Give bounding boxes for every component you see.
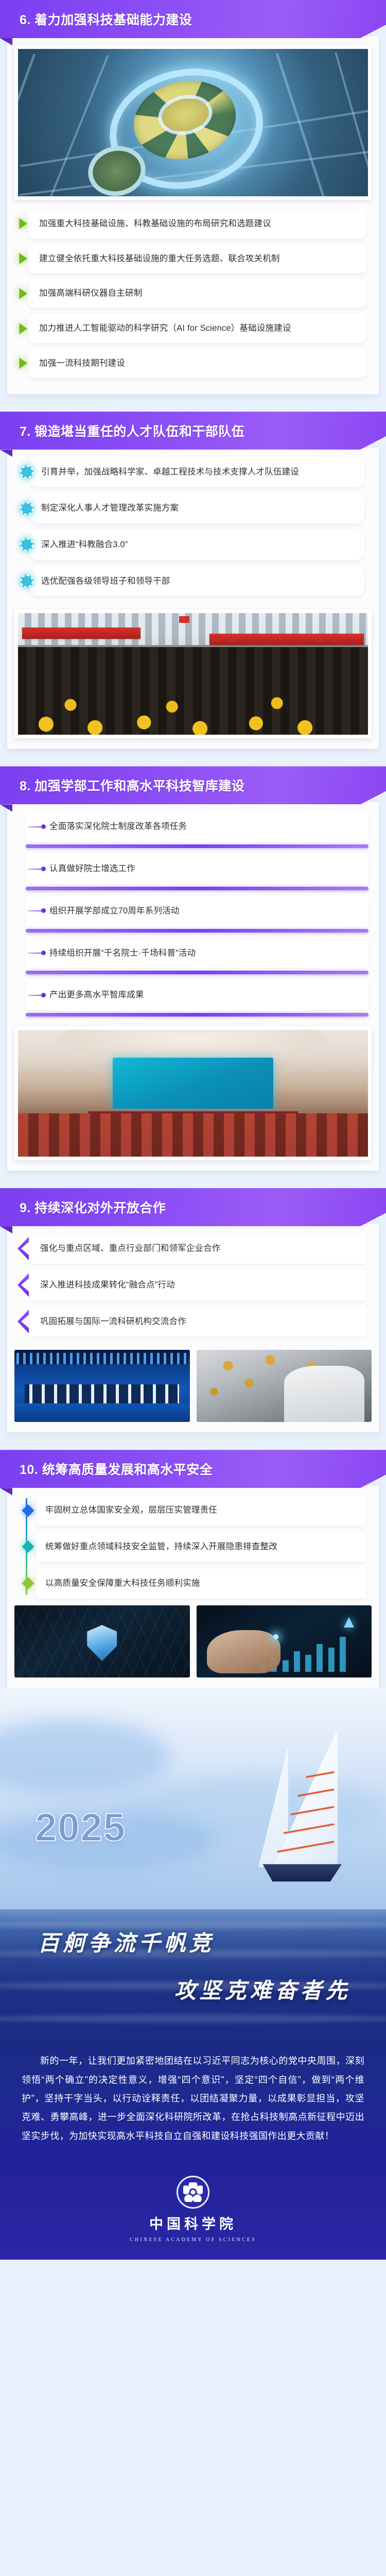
list-item-label: 深入推进“科教融合3.0” bbox=[41, 538, 356, 552]
section-spacer bbox=[0, 1171, 386, 1188]
section-10-photo-security bbox=[14, 1605, 190, 1677]
section-6-photo bbox=[14, 45, 372, 200]
divider-bar bbox=[26, 971, 369, 974]
section-spacer bbox=[0, 1432, 386, 1450]
presentation-screen bbox=[113, 1058, 274, 1108]
boat-hull bbox=[259, 1864, 342, 1882]
section-10-card: 牢固树立总体国家安全观，层层压实管理责任 统筹做好重点领域科技安全监管，持续深入… bbox=[7, 1486, 379, 1688]
led-strip bbox=[16, 1353, 188, 1364]
list-item-label: 全面落实深化院士制度改革各项任务 bbox=[49, 820, 361, 834]
list-item[interactable]: 加强一流科技期刊建设 bbox=[28, 349, 366, 378]
divider-bar bbox=[26, 887, 369, 890]
banner-notch bbox=[0, 1488, 12, 1495]
sailboat-icon bbox=[244, 1718, 342, 1888]
section-8-banner: 8. 加强学部工作和高水平科技智库建设 bbox=[0, 766, 386, 804]
list-item[interactable]: 制定深化人事人才管理改革实施方案 bbox=[30, 493, 364, 523]
list-item[interactable]: 产出更多高水平智库成果 bbox=[26, 980, 369, 1010]
road-line bbox=[14, 54, 36, 200]
org-name-en: CHINESE ACADEMY OF SCIENCES bbox=[130, 2237, 256, 2243]
section-10-photo-grid bbox=[14, 1605, 372, 1677]
wave bbox=[0, 2014, 386, 2023]
list-item[interactable]: 加强高端科研仪器自主研制 bbox=[28, 279, 366, 308]
section-9-photo-detector bbox=[197, 1350, 372, 1422]
researchers bbox=[284, 1366, 365, 1422]
hand bbox=[207, 1630, 280, 1673]
line-dot-bullet-icon bbox=[28, 950, 48, 956]
list-item[interactable]: 深入推进“科教融合3.0” bbox=[30, 530, 364, 560]
list-item-label: 持续组织开展“千名院士·千场科普”活动 bbox=[49, 946, 361, 960]
list-item-label: 选优配强各级领导班子和领导干部 bbox=[41, 574, 356, 588]
diamond-bullet-icon bbox=[22, 1504, 34, 1517]
divider-bar bbox=[26, 929, 369, 933]
slogan-line-1: 百舸争流千帆竞 bbox=[0, 1926, 386, 1957]
section-6: 6. 着力加强科技基础能力建设 加强重大科技基础设施、科教基础设施的布局研究和选… bbox=[0, 0, 386, 394]
infographic-page: 6. 着力加强科技基础能力建设 加强重大科技基础设施、科教基础设施的布局研究和选… bbox=[0, 0, 386, 2260]
dashed-circle-bullet-icon bbox=[20, 502, 33, 515]
graduates-crowd bbox=[18, 647, 368, 735]
list-item[interactable]: 加力推进人工智能驱动的科学研究（AI for Science）基础设施建设 bbox=[28, 314, 366, 343]
list-item[interactable]: 强化与重点区域、重点行业部门和领军企业合作 bbox=[30, 1233, 366, 1264]
list-item[interactable]: 持续组织开展“千名院士·千场科普”活动 bbox=[26, 938, 369, 969]
hall-dome bbox=[60, 1026, 326, 1060]
triangle-bullet-icon bbox=[19, 218, 27, 229]
diamond-bullet-icon bbox=[22, 1540, 34, 1553]
org-name-cn: 中国科学院 bbox=[149, 2213, 237, 2233]
section-6-title: 6. 着力加强科技基础能力建设 bbox=[0, 10, 192, 28]
list-item[interactable]: 统筹做好重点领域科技安全监管，持续深入开展隐患排查整改 bbox=[36, 1532, 366, 1562]
section-10-title: 10. 统筹高质量发展和高水平安全 bbox=[0, 1460, 213, 1478]
banner-notch bbox=[0, 1226, 12, 1233]
triangle-bullet-icon bbox=[19, 288, 27, 299]
chevron-left-bullet-icon bbox=[17, 1236, 29, 1260]
stage-people bbox=[25, 1384, 179, 1403]
finale-section: 2025 百舸争流千帆竞 攻坚克难奋者先 新的一年，让我们更加紧密地团结在以习近… bbox=[0, 1688, 386, 2260]
section-8-photo bbox=[14, 1026, 372, 1160]
section-8-list: 全面落实深化院士制度改革各项任务 认真做好院士增选工作 组织开展学部成立70周年… bbox=[14, 811, 372, 1022]
section-spacer bbox=[0, 749, 386, 766]
watercolor-sea-top: 2025 bbox=[0, 1688, 386, 1909]
triangle-bullet-icon bbox=[19, 358, 27, 369]
section-6-list: 加强重大科技基础设施、科教基础设施的布局研究和选题建议 建立健全依托重大科技基础… bbox=[14, 209, 372, 384]
section-9-photo-forum bbox=[14, 1350, 190, 1422]
stage-carpet bbox=[14, 1403, 190, 1422]
section-spacer bbox=[0, 394, 386, 412]
list-item[interactable]: 引育并举，加强战略科学家、卓越工程技术与技术支撑人才队伍建设 bbox=[30, 457, 364, 487]
list-item-label: 认真做好院士增选工作 bbox=[49, 862, 361, 876]
list-item-label: 加强高端科研仪器自主研制 bbox=[39, 286, 358, 300]
section-8-card: 全面落实深化院士制度改革各项任务 认真做好院士增选工作 组织开展学部成立70周年… bbox=[7, 802, 379, 1171]
watercolor-sea-mid: 百舸争流千帆竞 攻坚克难奋者先 bbox=[0, 1909, 386, 2048]
list-item-label: 制定深化人事人才管理改革实施方案 bbox=[41, 501, 356, 515]
section-9: 9. 持续深化对外开放合作 强化与重点区域、重点行业部门和领军企业合作 深入推进… bbox=[0, 1188, 386, 1432]
list-item-label: 加强一流科技期刊建设 bbox=[39, 357, 358, 370]
audience-seats bbox=[18, 1113, 368, 1157]
divider-bar bbox=[26, 1013, 369, 1016]
road-line bbox=[275, 53, 332, 200]
section-8: 8. 加强学部工作和高水平科技智库建设 全面落实深化院士制度改革各项任务 认真做… bbox=[0, 766, 386, 1171]
line-dot-bullet-icon bbox=[28, 992, 48, 998]
red-banner bbox=[209, 634, 364, 645]
section-9-card: 强化与重点区域、重点行业部门和领军企业合作 深入推进科技成果转化“融合点”行动 … bbox=[7, 1224, 379, 1432]
section-7-title: 7. 锻造堪当重任的人才队伍和干部队伍 bbox=[0, 421, 244, 440]
flag-icon bbox=[179, 616, 189, 623]
list-item-label: 加强重大科技基础设施、科教基础设施的布局研究和选题建议 bbox=[39, 217, 358, 231]
list-item-label: 巩固拓展与国际一流科研机构交流合作 bbox=[40, 1315, 359, 1329]
section-7: 7. 锻造堪当重任的人才队伍和干部队伍 引育并举，加强战略科学家、卓越工程技术与… bbox=[0, 412, 386, 749]
list-item[interactable]: 深入推进科技成果转化“融合点”行动 bbox=[30, 1270, 366, 1300]
list-item[interactable]: 组织开展学部成立70周年系列活动 bbox=[26, 896, 369, 926]
section-6-banner: 6. 着力加强科技基础能力建设 bbox=[0, 0, 386, 38]
watercolor-wash bbox=[0, 1719, 170, 1794]
emblem-center-dot bbox=[191, 2190, 196, 2195]
up-arrow-icon bbox=[344, 1617, 354, 1628]
triangle-bullet-icon bbox=[19, 323, 27, 334]
red-banner bbox=[22, 628, 141, 639]
dashed-circle-bullet-icon bbox=[20, 538, 33, 551]
list-item[interactable]: 以高质量安全保障重大科技任务顺利实施 bbox=[36, 1568, 366, 1599]
slogan-line-2: 攻坚克难奋者先 bbox=[0, 1973, 386, 2005]
list-item-label: 引育并举，加强战略科学家、卓越工程技术与技术支撑人才队伍建设 bbox=[41, 465, 356, 479]
line-dot-bullet-icon bbox=[28, 866, 48, 872]
year-label: 2025 bbox=[35, 1805, 126, 1850]
section-8-title: 8. 加强学部工作和高水平科技智库建设 bbox=[0, 776, 244, 794]
section-9-title: 9. 持续深化对外开放合作 bbox=[0, 1198, 166, 1216]
list-item[interactable]: 选优配强各级领导班子和领导干部 bbox=[30, 566, 364, 597]
list-item-label: 深入推进科技成果转化“融合点”行动 bbox=[40, 1278, 359, 1292]
triangle-bullet-icon bbox=[19, 253, 27, 264]
section-10-photo-growth bbox=[197, 1605, 372, 1677]
closing-paragraph: 新的一年，让我们更加紧密地团结在以习近平同志为核心的党中央周围，深刻领悟“两个确… bbox=[22, 2052, 364, 2145]
section-7-photo bbox=[14, 609, 372, 738]
list-item-label: 统筹做好重点领域科技安全监管，持续深入开展隐患排查整改 bbox=[45, 1540, 359, 1554]
list-item[interactable]: 认真做好院士增选工作 bbox=[26, 854, 369, 884]
list-item-label: 牢固树立总体国家安全观，层层压实管理责任 bbox=[45, 1503, 359, 1517]
section-9-list: 强化与重点区域、重点行业部门和领军企业合作 深入推进科技成果转化“融合点”行动 … bbox=[14, 1233, 372, 1343]
section-10: 10. 统筹高质量发展和高水平安全 牢固树立总体国家安全观，层层压实管理责任 统… bbox=[0, 1450, 386, 1688]
list-item-label: 加力推进人工智能驱动的科学研究（AI for Science）基础设施建设 bbox=[39, 321, 358, 335]
list-item[interactable]: 加强重大科技基础设施、科教基础设施的布局研究和选题建议 bbox=[28, 209, 366, 239]
list-item[interactable]: 全面落实深化院士制度改革各项任务 bbox=[26, 811, 369, 842]
cas-emblem-icon bbox=[177, 2176, 209, 2209]
list-item-label: 建立健全依托重大科技基础设施的重大任务选题、联合攻关机制 bbox=[39, 252, 358, 266]
list-item[interactable]: 巩固拓展与国际一流科研机构交流合作 bbox=[30, 1307, 366, 1337]
list-item-label: 组织开展学部成立70周年系列活动 bbox=[49, 904, 361, 918]
list-item[interactable]: 牢固树立总体国家安全观，层层压实管理责任 bbox=[36, 1495, 366, 1526]
line-dot-bullet-icon bbox=[28, 824, 48, 830]
list-item-label: 产出更多高水平智库成果 bbox=[49, 988, 361, 1002]
section-7-list: 引育并举，加强战略科学家、卓越工程技术与技术支撑人才队伍建设 制定深化人事人才管… bbox=[14, 457, 372, 603]
section-10-list: 牢固树立总体国家安全观，层层压实管理责任 统筹做好重点领域科技安全监管，持续深入… bbox=[14, 1495, 372, 1598]
closing-paragraph-block: 新的一年，让我们更加紧密地团结在以习近平同志为核心的党中央周围，深刻领悟“两个确… bbox=[0, 2048, 386, 2159]
footer-logo-block: 中国科学院 CHINESE ACADEMY OF SCIENCES bbox=[0, 2159, 386, 2260]
section-9-banner: 9. 持续深化对外开放合作 bbox=[0, 1188, 386, 1226]
road-line bbox=[335, 52, 372, 200]
list-item[interactable]: 建立健全依托重大科技基础设施的重大任务选题、联合攻关机制 bbox=[28, 244, 366, 274]
section-6-card: 加强重大科技基础设施、科教基础设施的布局研究和选题建议 建立健全依托重大科技基础… bbox=[7, 36, 379, 394]
section-9-photo-grid bbox=[14, 1350, 372, 1422]
dashed-circle-bullet-icon bbox=[20, 465, 33, 479]
chevron-left-bullet-icon bbox=[17, 1273, 29, 1297]
dashed-circle-bullet-icon bbox=[20, 574, 33, 588]
line-dot-bullet-icon bbox=[28, 908, 48, 914]
diamond-bullet-icon bbox=[22, 1577, 34, 1589]
section-7-card: 引育并举，加强战略科学家、卓越工程技术与技术支撑人才队伍建设 制定深化人事人才管… bbox=[7, 448, 379, 749]
section-7-banner: 7. 锻造堪当重任的人才队伍和干部队伍 bbox=[0, 412, 386, 450]
list-item-label: 强化与重点区域、重点行业部门和领军企业合作 bbox=[40, 1242, 359, 1256]
divider-bar bbox=[26, 844, 369, 848]
list-item-label: 以高质量安全保障重大科技任务顺利实施 bbox=[45, 1577, 359, 1590]
section-10-banner: 10. 统筹高质量发展和高水平安全 bbox=[0, 1450, 386, 1488]
chevron-left-bullet-icon bbox=[17, 1310, 29, 1333]
